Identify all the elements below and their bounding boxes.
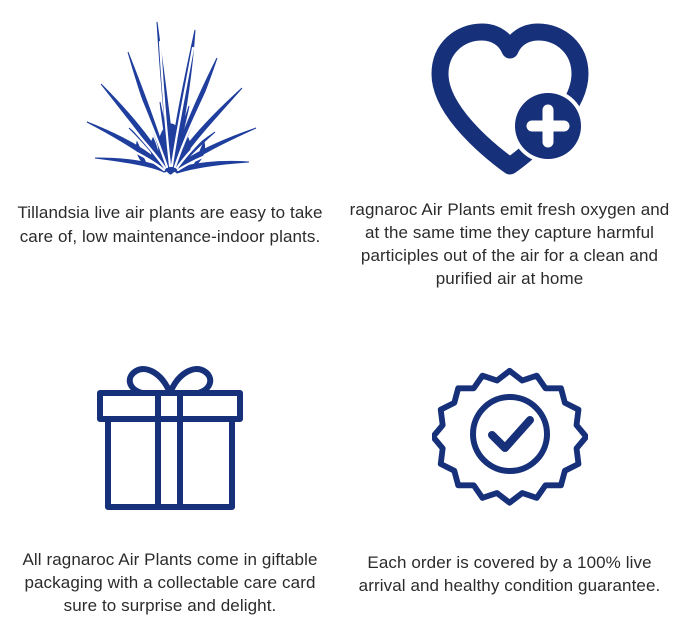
bow-loop-right — [170, 369, 210, 393]
feature-cell-fresh-oxygen: ragnaroc Air Plants emit fresh oxygen an… — [340, 0, 679, 309]
feature-cell-live-arrival-guarantee: Each order is covered by a 100% live arr… — [340, 309, 679, 617]
feature-text-air-plant-care: Tillandsia live air plants are easy to t… — [5, 201, 335, 249]
feature-cell-air-plant-care: Tillandsia live air plants are easy to t… — [0, 0, 340, 309]
feature-text-fresh-oxygen: ragnaroc Air Plants emit fresh oxygen an… — [347, 198, 673, 290]
badge-inner-circle — [473, 397, 547, 471]
guarantee-badge-icon — [432, 355, 588, 515]
gift-box-icon — [80, 355, 260, 512]
bow-loop-left — [130, 369, 170, 393]
heart-plus-icon — [426, 10, 594, 178]
badge-rosette — [432, 371, 585, 503]
gift-lid — [100, 393, 240, 419]
gift-body — [108, 419, 232, 507]
feature-grid: Tillandsia live air plants are easy to t… — [0, 0, 679, 617]
feature-text-live-arrival-guarantee: Each order is covered by a 100% live arr… — [345, 551, 675, 597]
air-plant-icon — [81, 8, 259, 178]
check-icon — [492, 420, 530, 448]
feature-cell-giftable-packaging: All ragnaroc Air Plants come in giftable… — [0, 309, 340, 617]
feature-text-giftable-packaging: All ragnaroc Air Plants come in giftable… — [11, 548, 329, 617]
